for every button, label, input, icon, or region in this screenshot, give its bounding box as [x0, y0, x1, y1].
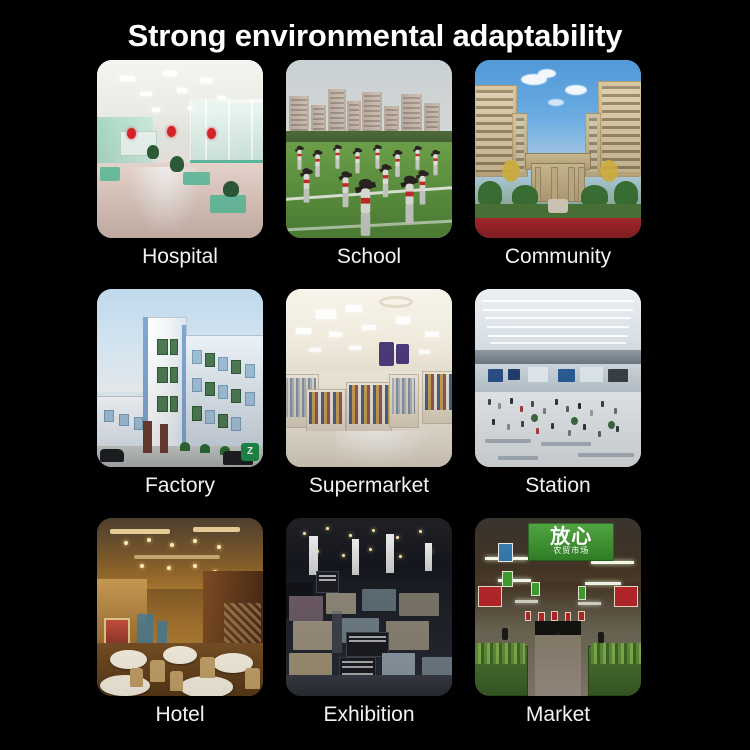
scene-factory-building-exterior: Z — [97, 289, 263, 467]
market-banner-line1: 放心 — [529, 526, 613, 546]
promo-page: Strong environmental adaptability — [0, 0, 750, 750]
tile-label-market: Market — [445, 701, 671, 729]
scene-residential-community-gate — [475, 60, 641, 238]
thumbnail-factory[interactable]: Z — [97, 289, 263, 467]
scene-hotel-restaurant-dining-hall — [97, 518, 263, 696]
page-title: Strong environmental adaptability — [0, 16, 750, 56]
market-banner-line2: 农贸市场 — [529, 546, 613, 556]
scenario-cell-supermarket[interactable]: Supermarket — [286, 289, 452, 467]
scene-supermarket-aisles-interior — [286, 289, 452, 467]
thumbnail-station[interactable] — [475, 289, 641, 467]
scenario-cell-factory[interactable]: Z Factory — [97, 289, 263, 467]
scene-exhibition-trade-show-hall — [286, 518, 452, 696]
scenario-cell-community[interactable]: Community — [475, 60, 641, 238]
scene-hospital-interior-corridor — [97, 60, 263, 238]
scenario-cell-exhibition[interactable]: Exhibition — [286, 518, 452, 696]
tile-label-station: Station — [445, 472, 671, 500]
scene-railway-station-waiting-hall — [475, 289, 641, 467]
thumbnail-hotel[interactable] — [97, 518, 263, 696]
thumbnail-school[interactable] — [286, 60, 452, 238]
factory-logo: Z — [241, 443, 259, 461]
thumbnail-supermarket[interactable] — [286, 289, 452, 467]
market-banner: 放心 农贸市场 — [528, 523, 614, 560]
thumbnail-hospital[interactable] — [97, 60, 263, 238]
scenario-cell-hotel[interactable]: Hotel — [97, 518, 263, 696]
scenario-cell-market[interactable]: 放心 农贸市场 — [475, 518, 641, 696]
tile-label-community: Community — [445, 243, 671, 271]
thumbnail-market[interactable]: 放心 农贸市场 — [475, 518, 641, 696]
thumbnail-community[interactable] — [475, 60, 641, 238]
scene-farmers-market-interior: 放心 农贸市场 — [475, 518, 641, 696]
scenario-grid: Hospital — [97, 60, 642, 740]
scene-school-students-morning-exercise — [286, 60, 452, 238]
scenario-cell-station[interactable]: Station — [475, 289, 641, 467]
thumbnail-exhibition[interactable] — [286, 518, 452, 696]
scenario-cell-school[interactable]: School — [286, 60, 452, 238]
scenario-cell-hospital[interactable]: Hospital — [97, 60, 263, 238]
